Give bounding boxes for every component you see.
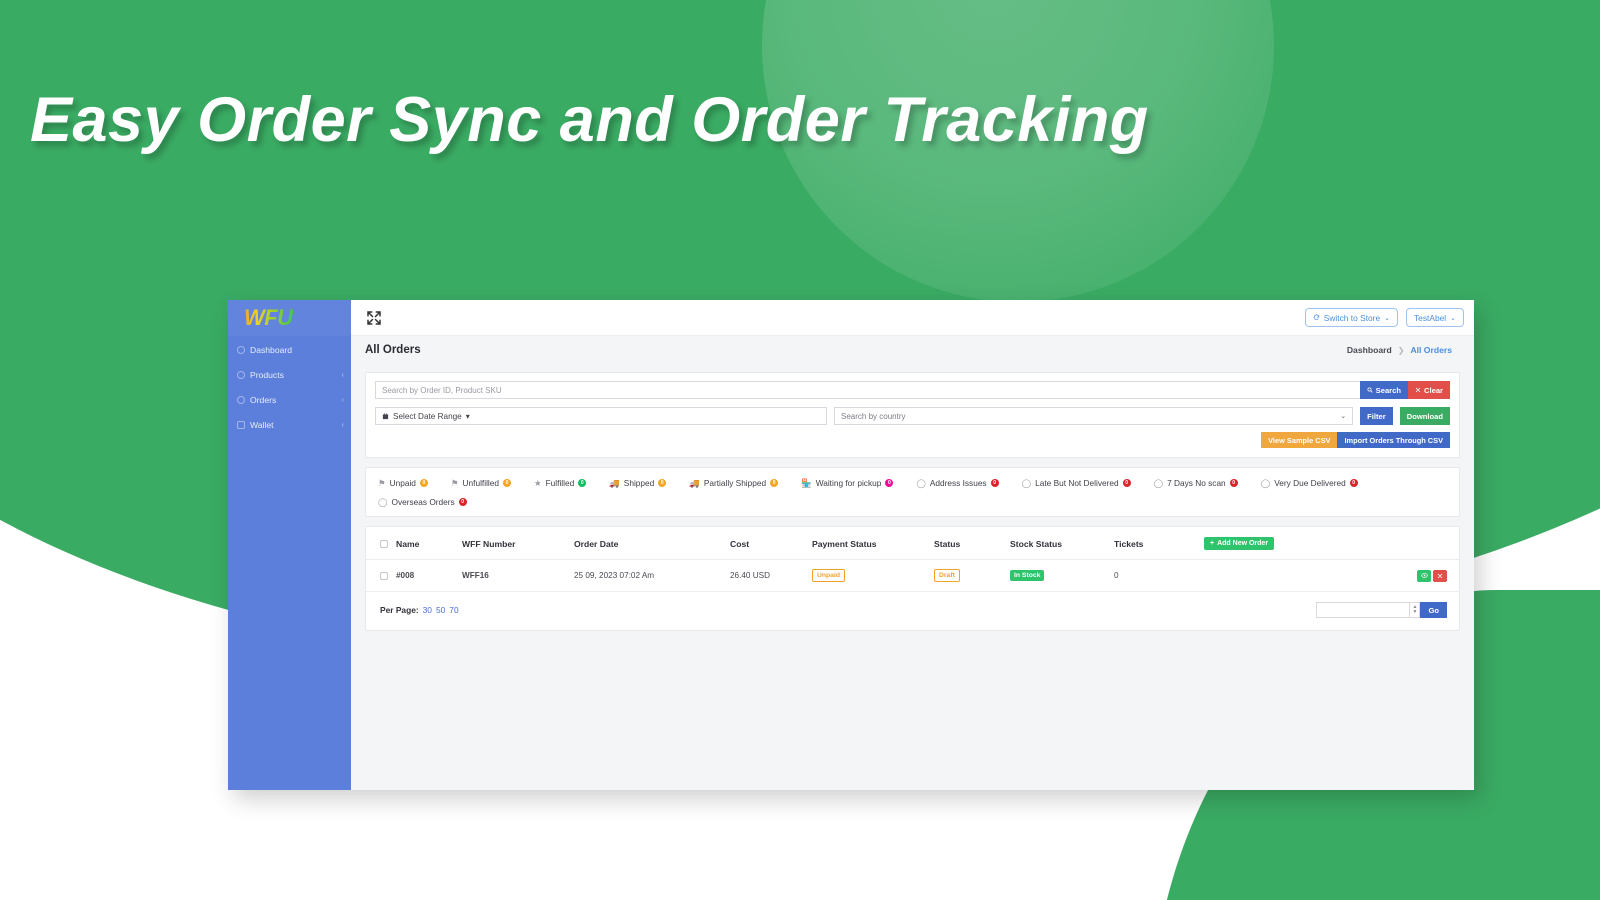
column-header-cost[interactable]: Cost: [726, 527, 808, 560]
per-page-control: Per Page:305070: [380, 605, 459, 615]
column-header-status[interactable]: Status: [930, 527, 1006, 560]
switch-to-store-label: Switch to Store: [1324, 313, 1380, 323]
status-badge: 0: [991, 479, 999, 487]
status-filter-label: Fulfilled: [546, 478, 575, 488]
sidebar-item-label: Orders: [250, 395, 337, 405]
flag-icon: ⚑: [451, 479, 459, 488]
status-filter-label: Shipped: [624, 478, 654, 488]
table-body: #008 WFF16 25 09, 2023 07:02 Am 26.40 US…: [366, 560, 1459, 592]
download-button-label: Download: [1407, 412, 1443, 421]
clear-button-label: Clear: [1424, 386, 1443, 395]
circle-icon: ◯: [1154, 479, 1164, 488]
column-header-name[interactable]: Name: [392, 527, 458, 560]
cell-tickets[interactable]: 0: [1110, 560, 1200, 592]
column-header-order-date[interactable]: Order Date: [570, 527, 726, 560]
chevron-left-icon: ‹: [342, 372, 344, 379]
cell-actions: [1200, 560, 1459, 592]
refresh-icon: [1313, 314, 1320, 321]
cell-cost: 26.40 USD: [726, 560, 808, 592]
import-orders-csv-label: Import Orders Through CSV: [1344, 436, 1443, 445]
circle-icon: ◯: [1022, 479, 1032, 488]
eye-icon: [1421, 572, 1428, 579]
download-button[interactable]: Download: [1400, 407, 1450, 425]
chevron-down-icon: ⌄: [1450, 314, 1456, 322]
status-filter-7-days-no-scan[interactable]: ◯ 7 Days No scan 0: [1154, 478, 1238, 488]
account-menu-button[interactable]: TestAbel ⌄: [1406, 308, 1464, 327]
search-button[interactable]: Search: [1360, 381, 1408, 399]
sidebar-item-label: Products: [250, 370, 337, 380]
status-badge: 0: [420, 479, 428, 487]
switch-to-store-button[interactable]: Switch to Store ⌄: [1305, 308, 1398, 327]
orders-icon: [237, 396, 245, 404]
stepper-icon[interactable]: ▲▼: [1410, 602, 1420, 618]
sidebar-item-products[interactable]: Products ‹: [228, 364, 351, 386]
go-button[interactable]: Go: [1420, 602, 1447, 618]
column-header-payment-status[interactable]: Payment Status: [808, 527, 930, 560]
page-head: All Orders Dashboard ❯ All Orders: [351, 336, 1474, 364]
search-filter-card: Search Clear: [365, 372, 1460, 458]
delete-order-button[interactable]: [1433, 570, 1447, 582]
filter-button[interactable]: Filter: [1360, 407, 1393, 425]
add-order-header: + Add New Order: [1200, 527, 1459, 560]
dashboard-icon: [237, 346, 245, 354]
import-orders-csv-button[interactable]: Import Orders Through CSV: [1337, 432, 1450, 448]
status-filter-label: Overseas Orders: [392, 497, 455, 507]
payment-status-badge: Unpaid: [812, 569, 845, 582]
add-new-order-label: Add New Order: [1217, 540, 1268, 547]
sidebar: WFU Dashboard Products ‹ Orders ‹ Wallet: [228, 300, 351, 790]
goto-page-input[interactable]: [1316, 602, 1410, 618]
status-filter-partially-shipped[interactable]: 🚚 Partially Shipped 0: [689, 478, 778, 488]
breadcrumb-separator-icon: ❯: [1398, 346, 1405, 355]
promo-stage: Easy Order Sync and Order Tracking WFU D…: [0, 0, 1600, 900]
filter-button-label: Filter: [1367, 412, 1386, 421]
per-page-label: Per Page:: [380, 605, 419, 615]
search-row: Search Clear: [375, 381, 1450, 399]
view-sample-csv-label: View Sample CSV: [1268, 436, 1330, 445]
view-sample-csv-button[interactable]: View Sample CSV: [1261, 432, 1337, 448]
brand-logo[interactable]: WFU: [228, 300, 293, 336]
breadcrumb: Dashboard ❯ All Orders: [1347, 345, 1452, 355]
flag-icon: ⚑: [378, 479, 386, 488]
column-header-stock-status[interactable]: Stock Status: [1006, 527, 1110, 560]
status-badge: 0: [770, 479, 778, 487]
calendar-icon: [382, 413, 389, 420]
main-pane: Switch to Store ⌄ TestAbel ⌄ All Orders …: [351, 300, 1474, 790]
brand-logo-container: WFU: [228, 300, 351, 336]
app-window: WFU Dashboard Products ‹ Orders ‹ Wallet: [228, 300, 1474, 790]
table-head: Name WFF Number Order Date Cost Payment …: [366, 527, 1459, 560]
status-filter-address-issues[interactable]: ◯ Address Issues 0: [916, 478, 998, 488]
status-filter-label: Late But Not Delivered: [1035, 478, 1118, 488]
select-all-checkbox[interactable]: [380, 540, 388, 548]
cell-payment-status: Unpaid: [808, 560, 930, 592]
promo-headline: Easy Order Sync and Order Tracking: [30, 84, 1330, 156]
status-filter-unfulfilled[interactable]: ⚑ Unfulfilled 0: [451, 478, 511, 488]
page-title: All Orders: [365, 344, 421, 356]
cell-wff-number: WFF16: [458, 560, 570, 592]
cell-stock-status: In Stock: [1006, 560, 1110, 592]
table-row[interactable]: #008 WFF16 25 09, 2023 07:02 Am 26.40 US…: [366, 560, 1459, 592]
status-filter-fulfilled[interactable]: ★ Fulfilled 0: [534, 478, 586, 488]
content-area: Search Clear: [351, 364, 1474, 790]
status-filter-label: Waiting for pickup: [816, 478, 882, 488]
country-select[interactable]: Search by country ⌄: [834, 407, 1353, 425]
stock-status-badge: In Stock: [1010, 570, 1044, 581]
sidebar-item-wallet[interactable]: Wallet ‹: [228, 414, 351, 436]
go-button-label: Go: [1428, 606, 1439, 615]
row-checkbox[interactable]: [380, 572, 388, 580]
search-button-label: Search: [1376, 386, 1401, 395]
sidebar-item-dashboard[interactable]: Dashboard: [228, 339, 351, 361]
status-filter-label: Address Issues: [930, 478, 987, 488]
magnifier-icon: [1367, 387, 1373, 393]
x-icon: [1437, 573, 1443, 579]
topbar: Switch to Store ⌄ TestAbel ⌄: [351, 300, 1474, 336]
table-header-row: Name WFF Number Order Date Cost Payment …: [366, 527, 1459, 560]
status-badge: 0: [885, 479, 893, 487]
x-icon: [1415, 387, 1421, 393]
sidebar-item-label: Dashboard: [250, 345, 339, 355]
status-filter-overseas-orders[interactable]: ◯ Overseas Orders 0: [378, 497, 467, 507]
status-badge: 0: [1350, 479, 1358, 487]
chevron-down-icon: ⌄: [1340, 412, 1346, 420]
plus-icon: +: [1210, 540, 1214, 547]
goto-page-group: ▲▼ Go: [1316, 602, 1447, 618]
row-action-group: [1417, 570, 1447, 582]
status-filter-late-but-not-delivered[interactable]: ◯ Late But Not Delivered 0: [1022, 478, 1131, 488]
status-filter-label: Very Due Delivered: [1274, 478, 1345, 488]
orders-table: Name WFF Number Order Date Cost Payment …: [366, 527, 1459, 591]
status-filter-label: Partially Shipped: [704, 478, 766, 488]
sidebar-item-orders[interactable]: Orders ‹: [228, 389, 351, 411]
status-filter-very-due-delivered[interactable]: ◯ Very Due Delivered 0: [1261, 478, 1358, 488]
truck-icon: 🚚: [689, 479, 700, 488]
select-all-header: [366, 527, 392, 560]
circle-icon: ◯: [916, 479, 926, 488]
store-icon: 🏪: [801, 479, 812, 488]
per-page-option-50[interactable]: 50: [436, 605, 445, 615]
wallet-icon: [237, 421, 245, 429]
csv-actions-row: View Sample CSV Import Orders Through CS…: [375, 432, 1450, 448]
status-badge: 0: [459, 498, 467, 506]
status-filter-label: Unfulfilled: [463, 478, 499, 488]
status-filter-label: 7 Days No scan: [1167, 478, 1226, 488]
status-badge: 0: [658, 479, 666, 487]
cell-order-date: 25 09, 2023 07:02 Am: [570, 560, 726, 592]
add-new-order-button[interactable]: + Add New Order: [1204, 537, 1274, 550]
account-label: TestAbel: [1414, 313, 1446, 323]
sidebar-item-label: Wallet: [250, 420, 337, 430]
per-page-option-70[interactable]: 70: [449, 605, 458, 615]
pagination-bar: Per Page:305070 ▲▼ Go: [366, 591, 1459, 630]
column-header-tickets[interactable]: Tickets: [1110, 527, 1200, 560]
circle-icon: ◯: [1261, 479, 1271, 488]
country-select-placeholder: Search by country: [841, 412, 905, 421]
status-filter-shipped[interactable]: 🚚 Shipped 0: [609, 478, 666, 488]
date-range-picker[interactable]: Select Date Range ▾: [375, 407, 827, 425]
search-input[interactable]: [375, 381, 1360, 399]
date-range-label: Select Date Range: [393, 412, 462, 421]
expand-arrows-icon[interactable]: [365, 309, 383, 327]
status-filter-unpaid[interactable]: ⚑ Unpaid 0: [378, 478, 428, 488]
chevron-left-icon: ‹: [342, 397, 344, 404]
cell-name[interactable]: #008: [392, 560, 458, 592]
status-badge: Draft: [934, 569, 960, 582]
chevron-down-icon: ⌄: [1384, 314, 1390, 322]
status-filter-waiting-for-pickup[interactable]: 🏪 Waiting for pickup 0: [801, 478, 893, 488]
view-order-button[interactable]: [1417, 570, 1431, 582]
status-filter-card: ⚑ Unpaid 0 ⚑ Unfulfilled 0 ★ Fulfilled 0: [365, 467, 1460, 517]
filter-row: Select Date Range ▾ Search by country ⌄ …: [375, 407, 1450, 425]
breadcrumb-dashboard[interactable]: Dashboard: [1347, 345, 1392, 355]
clear-button[interactable]: Clear: [1408, 381, 1450, 399]
status-badge: 0: [1230, 479, 1238, 487]
truck-icon: 🚚: [609, 479, 620, 488]
breadcrumb-current: All Orders: [1410, 345, 1452, 355]
status-filter-label: Unpaid: [390, 478, 416, 488]
star-icon: ★: [534, 479, 542, 488]
circle-icon: ◯: [378, 498, 388, 507]
orders-table-card: Name WFF Number Order Date Cost Payment …: [365, 526, 1460, 631]
column-header-wff-number[interactable]: WFF Number: [458, 527, 570, 560]
products-icon: [237, 371, 245, 379]
status-badge: 0: [1123, 479, 1131, 487]
row-select-cell: [366, 560, 392, 592]
cell-status: Draft: [930, 560, 1006, 592]
caret-down-icon: ▾: [466, 411, 470, 421]
status-badge: 0: [578, 479, 586, 487]
per-page-option-30[interactable]: 30: [423, 605, 432, 615]
chevron-left-icon: ‹: [342, 422, 344, 429]
status-badge: 0: [503, 479, 511, 487]
